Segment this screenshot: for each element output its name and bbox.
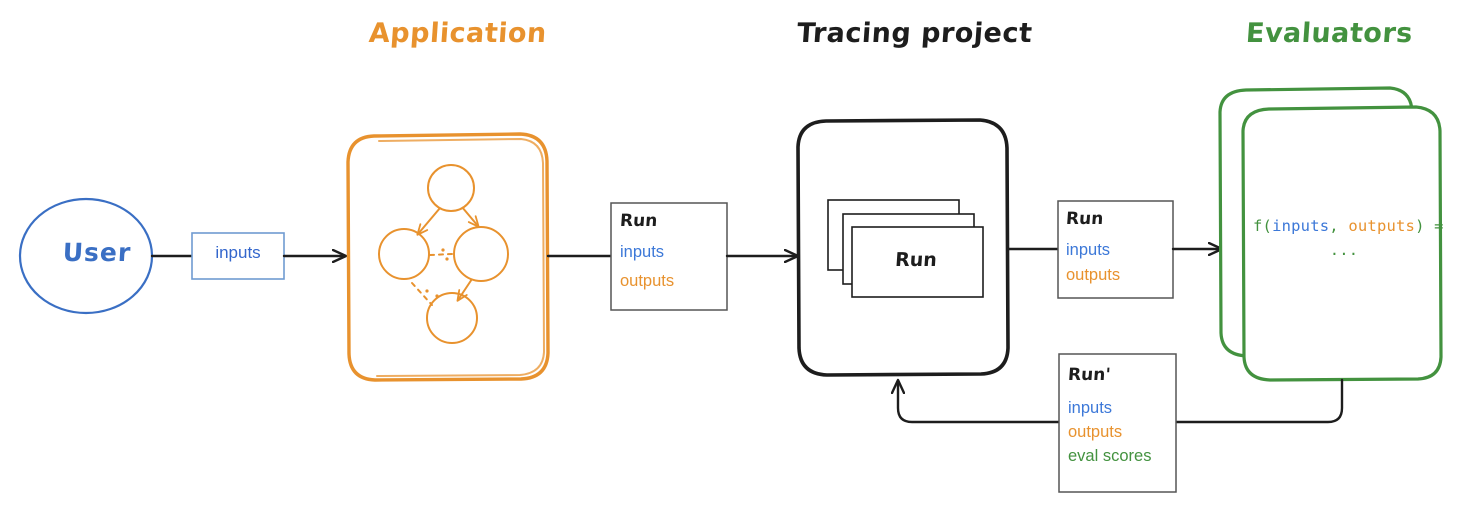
heading-evaluators: Evaluators xyxy=(1245,18,1414,49)
evaluator-code-token: outputs xyxy=(1348,217,1415,235)
heading-tracing-project: Tracing project xyxy=(796,18,1034,49)
run-prime-field-inputs: inputs xyxy=(1068,399,1112,418)
run-second-title: Run xyxy=(1065,209,1104,229)
diagram-canvas: Application Tracing project Evaluators U… xyxy=(0,0,1474,521)
evaluator-code-line2: ... xyxy=(1253,241,1435,259)
evaluator-code-token: , xyxy=(1329,217,1348,235)
evaluator-code-token: f( xyxy=(1253,217,1272,235)
graph-edge-left-right-dashed xyxy=(430,254,452,255)
graph-node-right xyxy=(454,227,508,281)
inputs-box-label: inputs xyxy=(192,243,284,263)
graph-node-left xyxy=(379,229,429,279)
graph-node-bottom xyxy=(427,293,477,343)
run-second-field-outputs: outputs xyxy=(1066,266,1120,285)
user-node-label: User xyxy=(43,238,151,267)
run-second-field-inputs: inputs xyxy=(1066,241,1110,260)
evaluator-code-line1: f(inputs, outputs) = xyxy=(1253,217,1435,235)
tracing-run-card-label: Run xyxy=(852,249,980,271)
run-first-field-inputs: inputs xyxy=(620,243,664,262)
heading-application: Application xyxy=(368,18,548,49)
evaluator-code-token: ) = xyxy=(1415,217,1444,235)
run-prime-field-eval-scores: eval scores xyxy=(1068,447,1151,466)
evaluator-code-token: inputs xyxy=(1272,217,1329,235)
run-first-title: Run xyxy=(619,211,658,231)
run-prime-title: Run' xyxy=(1067,365,1111,385)
graph-node-top xyxy=(428,165,474,211)
run-prime-field-outputs: outputs xyxy=(1068,423,1122,442)
run-first-field-outputs: outputs xyxy=(620,272,674,291)
